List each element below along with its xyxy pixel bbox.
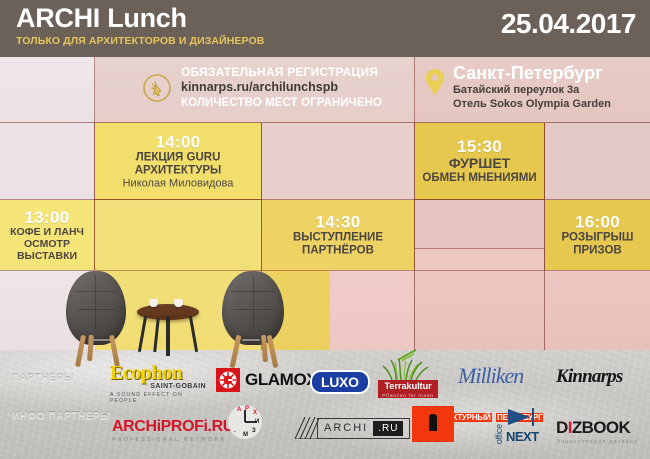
- schedule-line2: ПРИЗОВ: [545, 245, 650, 258]
- schedule-time: 15:30: [415, 137, 544, 156]
- grid-line-col-95: [94, 123, 95, 270]
- archiru-wordmark-box: ARCHI .RU: [317, 418, 410, 439]
- grid-line-row3-bottom: [0, 270, 650, 271]
- page-title: ARCHI Lunch: [16, 5, 264, 32]
- wall-panel-upper-left: [0, 123, 95, 200]
- dizbook-sub: Энциклопедия дизайна: [556, 439, 638, 445]
- page-subtitle: ТОЛЬКО ДЛЯ АРХИТЕКТОРОВ И ДИЗАЙНЕРОВ: [16, 35, 264, 47]
- location-text: Санкт-Петербург Батайский переулок 3а От…: [453, 64, 611, 111]
- header-bar: ARCHI Lunch ТОЛЬКО ДЛЯ АРХИТЕКТОРОВ И ДИ…: [0, 0, 650, 57]
- archiru-tld: .RU: [373, 421, 403, 436]
- grid-line-col-415: [414, 123, 415, 270]
- schedule-tile-1600[interactable]: 16:00 РОЗЫГРЫШ ПРИЗОВ: [545, 200, 650, 270]
- partner-logo-archiru[interactable]: ARCHI .RU: [295, 417, 410, 439]
- play-triangle-icon: [506, 408, 536, 426]
- archiru-wordmark: ARCHI: [324, 422, 368, 434]
- partner-logo-arhizm[interactable]: АРХ ИЗМ.: [228, 405, 262, 439]
- info-cell-left: [0, 57, 95, 123]
- event-date: 25.04.2017: [501, 8, 636, 40]
- hand-click-icon: [142, 73, 172, 103]
- grid-line-col-545: [544, 123, 545, 270]
- schedule-line3: Николая Миловидова: [95, 177, 261, 189]
- schedule-line2: АРХИТЕКТУРЫ: [95, 164, 261, 177]
- partner-logo-kinnarps[interactable]: Kinnarps: [556, 366, 622, 388]
- schedule-line2: ПАРТНЁРОВ: [262, 245, 414, 258]
- schedule-tile-1400[interactable]: 14:00 ЛЕКЦИЯ GURU АРХИТЕКТУРЫ Николая Ми…: [95, 123, 262, 200]
- dizbook-wordmark: DIZBOOK: [556, 418, 638, 438]
- schedule-time: 13:00: [0, 208, 94, 227]
- schedule-line2: ОСМОТР ВЫСТАВКИ: [0, 239, 94, 263]
- registration-text: ОБЯЗАТЕЛЬНАЯ РЕГИСТРАЦИЯ kinnarps.ru/arc…: [181, 65, 382, 110]
- poster: ARCHI Lunch ТОЛЬКО ДЛЯ АРХИТЕКТОРОВ И ДИ…: [0, 0, 650, 459]
- grid-line-row3-top: [0, 199, 650, 200]
- schedule-time: 14:00: [95, 132, 261, 151]
- coffee-cup-left: [149, 299, 158, 307]
- schedule-line1: ВЫСТУПЛЕНИЕ: [262, 232, 414, 245]
- info-row: ОБЯЗАТЕЛЬНАЯ РЕГИСТРАЦИЯ kinnarps.ru/arc…: [0, 57, 650, 123]
- wall-panel-upper-right: [545, 123, 650, 200]
- archiru-hatch-icon: [295, 417, 319, 439]
- archiprofi-wordmark: ARCHiPROFi.RU: [112, 418, 234, 435]
- partner-logo-glamox[interactable]: GLAMOX: [216, 368, 317, 392]
- floor: [0, 350, 650, 459]
- terrakultur-wordmark: Terrakultur: [378, 380, 438, 393]
- partner-logo-dizbook[interactable]: DIZBOOK Энциклопедия дизайна: [556, 418, 638, 445]
- registration-block[interactable]: ОБЯЗАТЕЛЬНАЯ РЕГИСТРАЦИЯ kinnarps.ru/arc…: [142, 65, 382, 110]
- location-block: Санкт-Петербург Батайский переулок 3а От…: [425, 64, 611, 111]
- registration-line3: КОЛИЧЕСТВО МЕСТ ОГРАНИЧЕНО: [181, 96, 382, 110]
- officenext-office-label: office: [494, 424, 504, 444]
- svg-text:Р: Р: [245, 406, 249, 412]
- glamox-wordmark: GLAMOX: [245, 370, 317, 390]
- partner-logo-luxo[interactable]: LUXO: [310, 370, 370, 394]
- svg-text:А: А: [237, 407, 242, 413]
- location-venue: Отель Sokos Olympia Garden: [453, 97, 611, 111]
- partner-logo-ecophon[interactable]: Ecophon SAINT-GOBAIN A SOUND EFFECT ON P…: [110, 362, 206, 404]
- schedule-tile-1430[interactable]: 14:30 ВЫСТУПЛЕНИЕ ПАРТНЁРОВ: [262, 200, 415, 270]
- registration-url[interactable]: kinnarps.ru/archilunchspb: [181, 80, 382, 96]
- chair-left: [66, 271, 126, 345]
- grid-line-col-262: [261, 123, 262, 270]
- partner-logo-milliken[interactable]: Milliken: [458, 363, 523, 389]
- schedule-time: 14:30: [262, 213, 414, 232]
- map-pin-icon: [425, 68, 445, 98]
- info-partners-label: ИНФО ПАРТНЁРЫ: [12, 411, 111, 422]
- wall-panel-upper-mid: [262, 123, 415, 200]
- archiprofi-sub: PROFESSIONAL NETWORK: [112, 437, 234, 443]
- registration-line1: ОБЯЗАТЕЛЬНАЯ РЕГИСТРАЦИЯ: [181, 65, 382, 80]
- schedule-line1: РОЗЫГРЫШ: [545, 232, 650, 245]
- svg-text:З: З: [252, 428, 256, 434]
- glamox-mark-icon: [216, 368, 240, 392]
- location-street: Батайский переулок 3а: [453, 83, 611, 97]
- arch-petersburg-a-icon: [412, 406, 454, 442]
- ecophon-wordmark: Ecophon: [110, 362, 206, 385]
- ecophon-tagline: A SOUND EFFECT ON PEOPLE: [110, 392, 206, 404]
- schedule-line1: ФУРШЕТ: [415, 156, 544, 172]
- schedule-tile-1300[interactable]: 13:00 КОФЕ И ЛАНЧ ОСМОТР ВЫСТАВКИ: [0, 200, 95, 270]
- arhizm-clock-icon: АРХ ИЗМ.: [228, 405, 262, 439]
- officenext-mark: NEXT: [506, 408, 539, 444]
- partner-logo-terrakultur[interactable]: Terrakultur Pflanzen für innen: [378, 358, 438, 398]
- schedule-line1: ЛЕКЦИЯ GURU: [95, 151, 261, 164]
- partner-logo-officenext[interactable]: office NEXT: [494, 408, 539, 444]
- schedule-tile-1530[interactable]: 15:30 ФУРШЕТ ОБМЕН МНЕНИЯМИ: [415, 123, 545, 200]
- svg-text:И: И: [255, 419, 259, 425]
- brand: ARCHI Lunch ТОЛЬКО ДЛЯ АРХИТЕКТОРОВ И ДИ…: [16, 5, 264, 47]
- partners-label: ПАРТНЁРЫ: [12, 373, 74, 384]
- schedule-time: 16:00: [545, 213, 650, 232]
- location-city: Санкт-Петербург: [453, 64, 611, 83]
- chair-right: [222, 271, 284, 345]
- svg-text:Х: Х: [253, 410, 257, 416]
- terrakultur-sub: Pflanzen für innen: [378, 393, 438, 398]
- svg-text:М: М: [243, 432, 248, 438]
- terrakultur-grass-icon: [378, 358, 438, 380]
- coffee-cup-right: [174, 299, 183, 307]
- schedule-line2: ОБМЕН МНЕНИЯМИ: [415, 172, 544, 185]
- partner-logo-archiprofi[interactable]: ARCHiPROFi.RU PROFESSIONAL NETWORK: [112, 418, 234, 443]
- coffee-table: [137, 304, 199, 352]
- officenext-next-label: NEXT: [506, 429, 539, 444]
- svg-text:.: .: [234, 428, 236, 434]
